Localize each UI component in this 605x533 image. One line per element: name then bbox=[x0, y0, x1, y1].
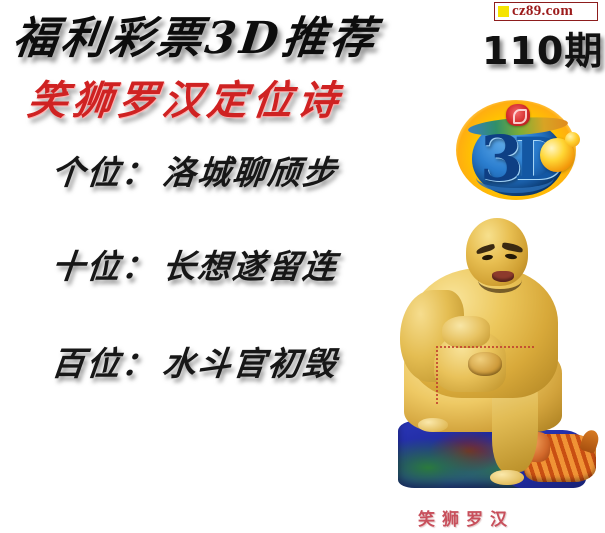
page-subtitle: 笑狮罗汉定位诗 bbox=[24, 68, 346, 126]
watermark-site-label: cz89.com bbox=[512, 4, 573, 19]
statue-crop-marks bbox=[436, 346, 534, 404]
yellow-square-icon bbox=[498, 6, 509, 17]
poem-row-units: 个位：洛城聊颀步 bbox=[49, 146, 340, 194]
3d-lottery-logo: 3 D bbox=[452, 96, 580, 204]
logo-seal-icon bbox=[506, 104, 530, 126]
poem-value-units: 洛城聊颀步 bbox=[161, 153, 340, 192]
issue-number: 110期 bbox=[482, 20, 603, 75]
poster-canvas: cz89.com 110期 福利彩票3D推荐 笑狮罗汉定位诗 个位：洛城聊颀步 … bbox=[0, 0, 605, 533]
statue-lion-tail bbox=[579, 428, 601, 454]
statue-right-foot bbox=[490, 470, 524, 485]
statue-caption: 笑狮罗汉 bbox=[418, 505, 514, 530]
poem-row-tens: 十位：长想遂留连 bbox=[49, 240, 340, 288]
poem-label-tens: 十位： bbox=[50, 247, 159, 286]
luohan-statue-image bbox=[382, 212, 604, 502]
poem-label-units: 个位： bbox=[50, 153, 159, 192]
site-watermark: cz89.com bbox=[494, 2, 598, 21]
poem-row-hundreds: 百位：水斗官初毁 bbox=[49, 337, 340, 385]
poem-label-hundreds: 百位： bbox=[50, 344, 159, 383]
statue-left-foot bbox=[418, 418, 448, 432]
poem-value-tens: 长想遂留连 bbox=[161, 247, 340, 286]
statue-hand bbox=[442, 316, 490, 348]
logo-small-orb-icon bbox=[565, 132, 580, 147]
page-title: 福利彩票3D推荐 bbox=[10, 2, 383, 66]
statue-mouth bbox=[492, 271, 514, 282]
poem-value-hundreds: 水斗官初毁 bbox=[161, 344, 340, 383]
